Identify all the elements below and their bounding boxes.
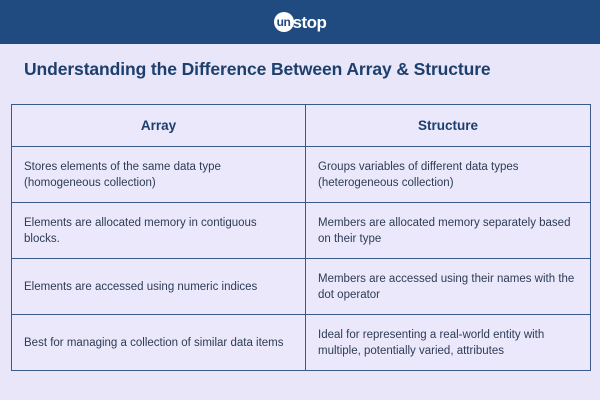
table-header: Array Structure	[12, 105, 591, 147]
unstop-logo-mark-text: un	[277, 16, 291, 29]
cell-array-1: Stores elements of the same data type (h…	[12, 147, 306, 203]
column-header-structure: Structure	[306, 105, 591, 147]
table-row: Stores elements of the same data type (h…	[12, 147, 591, 203]
cell-array-3: Elements are accessed using numeric indi…	[12, 259, 306, 315]
table-row: Elements are accessed using numeric indi…	[12, 259, 591, 315]
comparison-table: Array Structure Stores elements of the s…	[11, 104, 591, 371]
brand-band: un stop	[0, 0, 600, 44]
unstop-logo: un stop	[274, 11, 327, 33]
cell-array-4: Best for managing a collection of simila…	[12, 315, 306, 371]
page-title: Understanding the Difference Between Arr…	[24, 58, 584, 80]
cell-array-2: Elements are allocated memory in contigu…	[12, 203, 306, 259]
table-body: Stores elements of the same data type (h…	[12, 147, 591, 371]
infographic-page: un stop Understanding the Difference Bet…	[0, 0, 600, 400]
table-header-row: Array Structure	[12, 105, 591, 147]
cell-structure-3: Members are accessed using their names w…	[306, 259, 591, 315]
unstop-logo-wordmark: stop	[293, 14, 327, 31]
table-row: Best for managing a collection of simila…	[12, 315, 591, 371]
cell-structure-4: Ideal for representing a real-world enti…	[306, 315, 591, 371]
cell-structure-1: Groups variables of different data types…	[306, 147, 591, 203]
unstop-logo-circle-icon: un	[274, 12, 294, 32]
cell-structure-2: Members are allocated memory separately …	[306, 203, 591, 259]
column-header-array: Array	[12, 105, 306, 147]
table-row: Elements are allocated memory in contigu…	[12, 203, 591, 259]
